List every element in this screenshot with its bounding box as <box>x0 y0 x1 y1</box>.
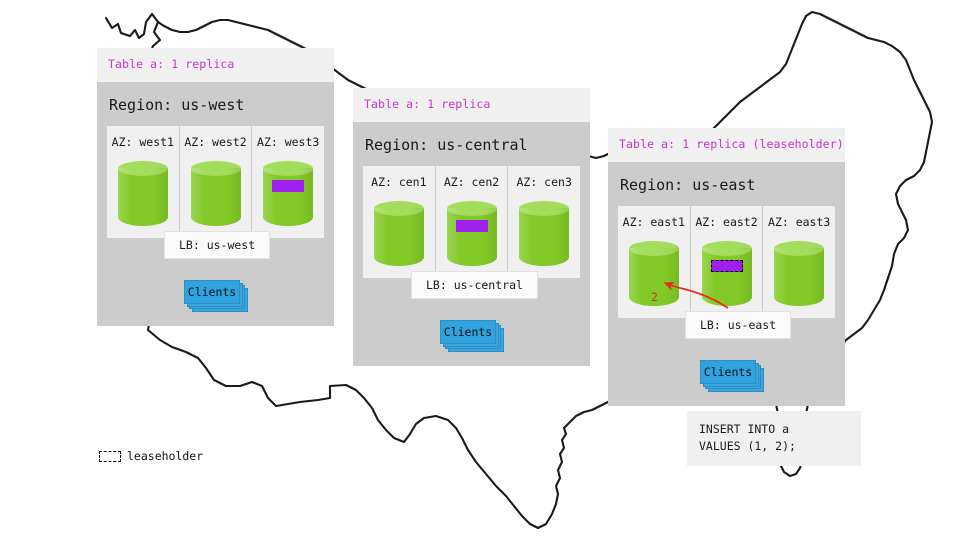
database-cylinder-icon <box>118 161 168 229</box>
clients-label: Clients <box>184 280 240 304</box>
replica-marker-east2-leaseholder <box>711 260 743 272</box>
az-label-east2: AZ: east2 <box>691 215 763 229</box>
az-cell-west1[interactable]: AZ: west1 <box>107 126 179 238</box>
database-cylinder-icon <box>374 201 424 269</box>
replica-marker-west3 <box>272 180 304 192</box>
replica-marker-cen2 <box>456 220 488 232</box>
database-cylinder-icon <box>447 201 497 269</box>
legend-label: leaseholder <box>127 449 203 463</box>
leaseholder-swatch-icon <box>99 451 121 462</box>
az-cell-west3[interactable]: AZ: west3 <box>251 126 324 238</box>
region-card-us-west: Table a: 1 replica Region: us-west AZ: w… <box>97 48 334 326</box>
region-card-us-central: Table a: 1 replica Region: us-central AZ… <box>353 88 590 366</box>
az-label-cen3: AZ: cen3 <box>508 175 580 189</box>
clients-button-us-central[interactable]: Clients <box>440 320 496 344</box>
sql-statement-box: INSERT INTO a VALUES (1, 2); <box>687 411 861 466</box>
az-cell-cen1[interactable]: AZ: cen1 <box>363 166 435 278</box>
clients-button-us-east[interactable]: Clients <box>700 360 756 384</box>
load-balancer-us-west[interactable]: LB: us-west <box>164 231 270 259</box>
az-cell-cen3[interactable]: AZ: cen3 <box>507 166 580 278</box>
az-cell-cen2[interactable]: AZ: cen2 <box>435 166 508 278</box>
region-header-us-east: Table a: 1 replica (leaseholder) <box>608 128 845 162</box>
az-label-east1: AZ: east1 <box>618 215 690 229</box>
az-label-west2: AZ: west2 <box>180 135 252 149</box>
az-cell-east3[interactable]: AZ: east3 <box>762 206 835 318</box>
diagram-canvas: Table a: 1 replica Region: us-west AZ: w… <box>0 0 960 540</box>
database-cylinder-icon <box>191 161 241 229</box>
region-title-us-central: Region: us-central <box>353 122 590 166</box>
az-label-east3: AZ: east3 <box>763 215 835 229</box>
az-strip-us-west: AZ: west1 AZ: west2 AZ: west3 <box>107 126 324 238</box>
az-label-west1: AZ: west1 <box>107 135 179 149</box>
az-label-cen2: AZ: cen2 <box>436 175 508 189</box>
region-title-us-west: Region: us-west <box>97 82 334 126</box>
region-header-us-west: Table a: 1 replica <box>97 48 334 82</box>
clients-label: Clients <box>700 360 756 384</box>
az-cell-east2[interactable]: AZ: east2 <box>690 206 763 318</box>
arrow-step-label: 2 <box>651 290 658 304</box>
database-cylinder-icon <box>263 161 313 229</box>
database-cylinder-icon <box>702 241 752 309</box>
database-cylinder-icon <box>774 241 824 309</box>
database-cylinder-icon <box>519 201 569 269</box>
az-label-cen1: AZ: cen1 <box>363 175 435 189</box>
node-east1[interactable] <box>618 229 690 331</box>
az-strip-us-central: AZ: cen1 AZ: cen2 AZ: cen3 <box>363 166 580 278</box>
az-label-west3: AZ: west3 <box>252 135 324 149</box>
region-title-us-east: Region: us-east <box>608 162 845 206</box>
load-balancer-us-east[interactable]: LB: us-east <box>685 311 791 339</box>
region-card-us-east: Table a: 1 replica (leaseholder) Region:… <box>608 128 845 406</box>
region-header-us-central: Table a: 1 replica <box>353 88 590 122</box>
legend-leaseholder: leaseholder <box>99 449 203 463</box>
clients-button-us-west[interactable]: Clients <box>184 280 240 304</box>
clients-label: Clients <box>440 320 496 344</box>
load-balancer-us-central[interactable]: LB: us-central <box>411 271 538 299</box>
az-cell-west2[interactable]: AZ: west2 <box>179 126 252 238</box>
